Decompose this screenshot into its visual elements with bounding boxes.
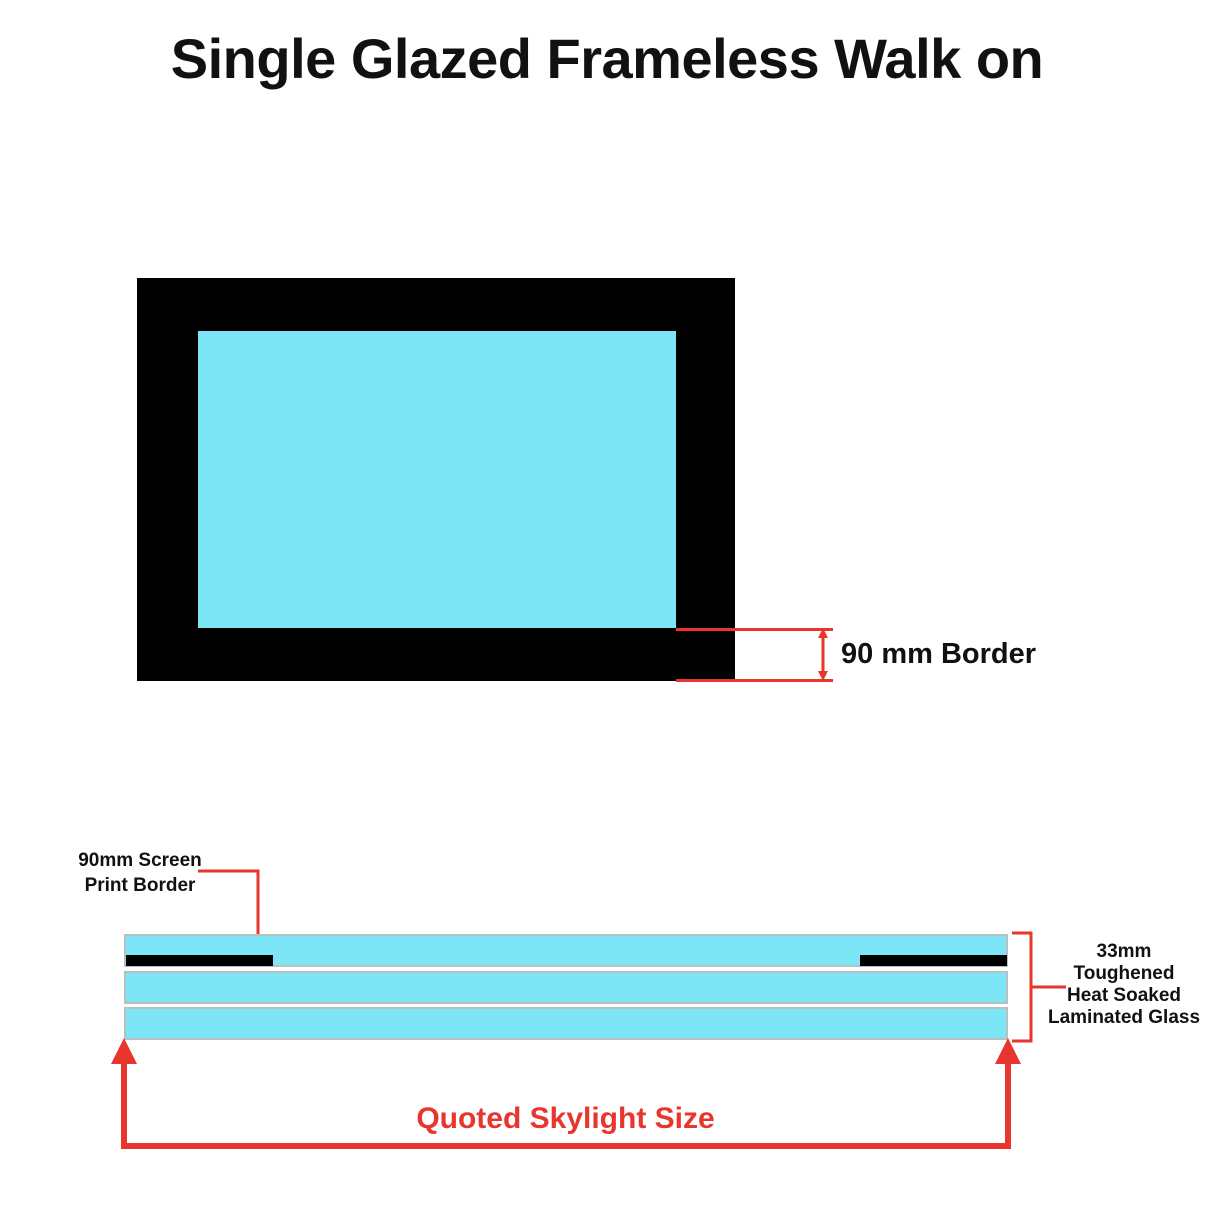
glass-thickness-label-line-2: Toughened xyxy=(1040,963,1208,985)
quoted-size-label: Quoted Skylight Size xyxy=(0,1102,1131,1136)
skylight-glass-panel xyxy=(198,331,676,628)
diagram-canvas: Single Glazed Frameless Walk on 90 mm Bo… xyxy=(0,0,1214,1214)
glass-thickness-label: 33mm Toughened Heat Soaked Laminated Gla… xyxy=(1040,941,1208,1029)
glass-thickness-label-line-1: 33mm xyxy=(1040,941,1208,963)
border-dimension-label: 90 mm Border xyxy=(841,638,1036,671)
screen-print-strip-left xyxy=(126,955,273,966)
quoted-size-bracket-icon xyxy=(110,1036,1022,1156)
border-extension-line-bottom xyxy=(676,679,833,682)
border-extension-line-top xyxy=(676,628,833,631)
glass-thickness-label-line-3: Heat Soaked xyxy=(1040,985,1208,1007)
border-dimension-arrow-icon xyxy=(815,628,831,681)
page-title: Single Glazed Frameless Walk on xyxy=(0,26,1214,91)
glass-layer-middle xyxy=(124,971,1008,1004)
glass-thickness-label-line-4: Laminated Glass xyxy=(1040,1007,1208,1029)
screen-print-strip-right xyxy=(860,955,1007,966)
